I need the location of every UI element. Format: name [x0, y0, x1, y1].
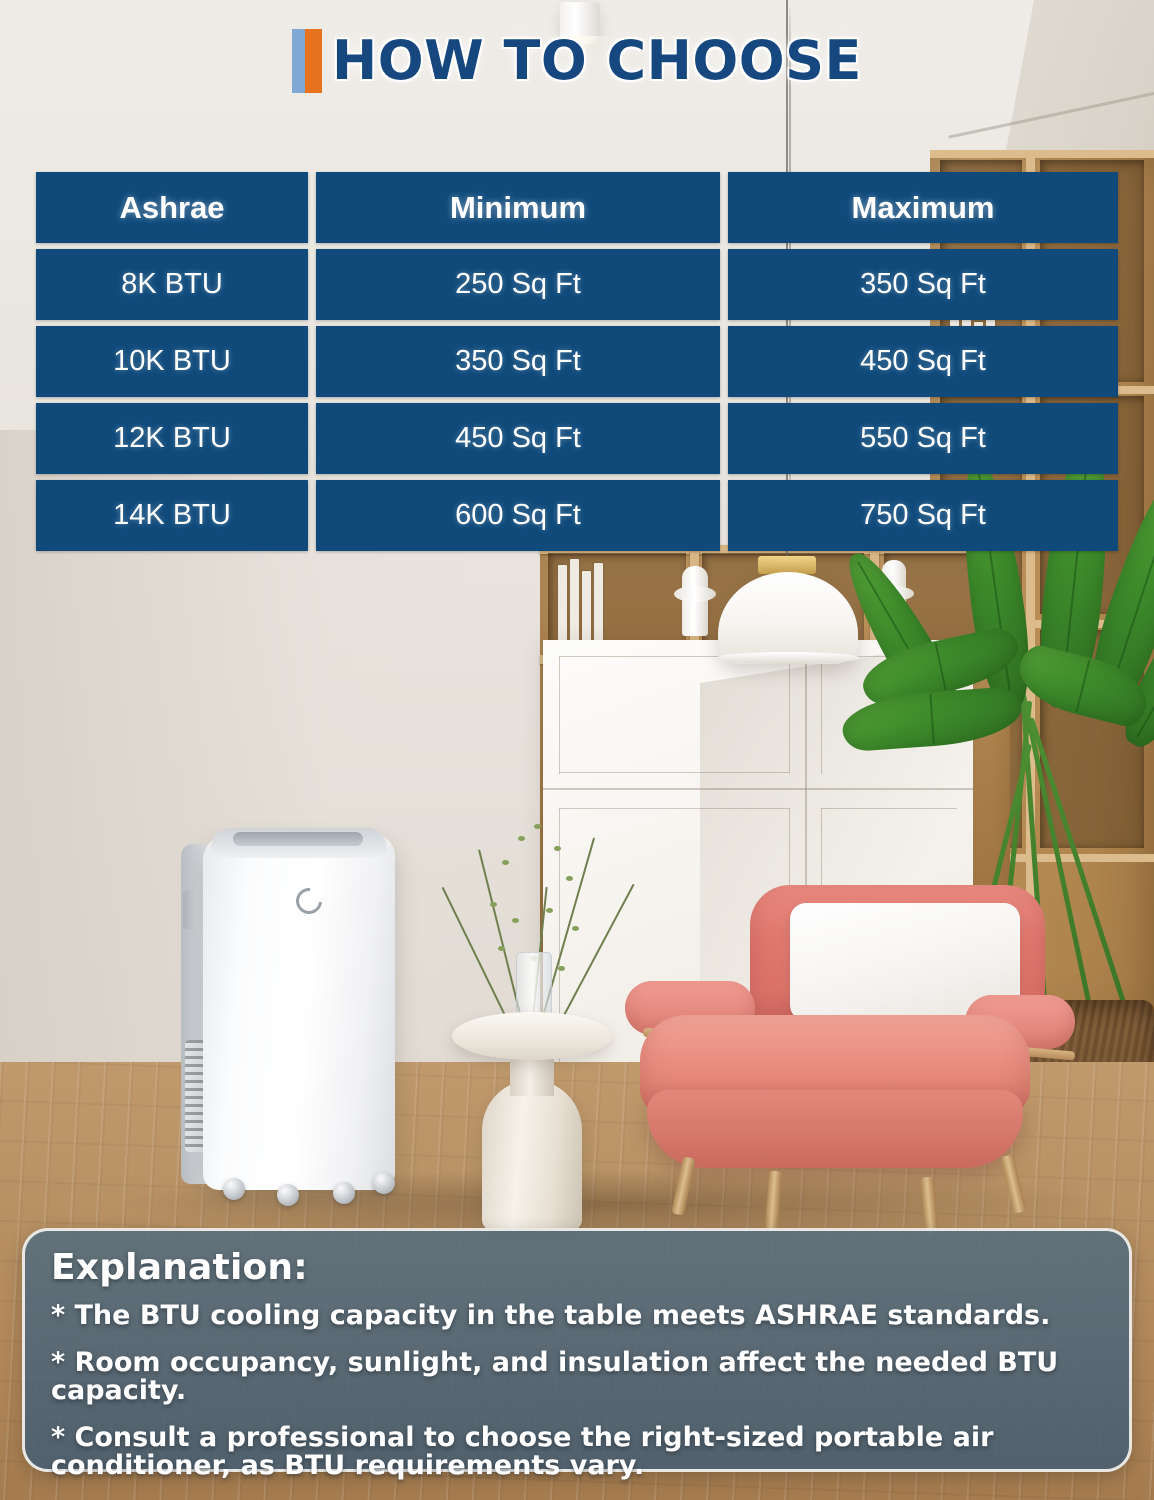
cell-maximum: 350 Sq Ft [728, 249, 1118, 320]
table-row: 14K BTU 600 Sq Ft 750 Sq Ft [36, 480, 1118, 551]
cell-maximum: 750 Sq Ft [728, 480, 1118, 551]
column-header-maximum: Maximum [728, 172, 1118, 243]
cell-ashrae: 12K BTU [36, 403, 308, 474]
cell-ashrae: 14K BTU [36, 480, 308, 551]
table-header-row: Ashrae Minimum Maximum [36, 172, 1118, 243]
explanation-line-1: * The BTU cooling capacity in the table … [51, 1302, 1103, 1331]
candlestick-ornament [682, 566, 708, 636]
title-accent-bars [292, 29, 322, 93]
cell-ashrae: 8K BTU [36, 249, 308, 320]
explanation-title: Explanation: [51, 1247, 1103, 1288]
explanation-line-3: * Consult a professional to choose the r… [51, 1424, 1103, 1481]
books [558, 559, 603, 647]
page-title: HOW TO CHOOSE [332, 34, 862, 88]
page-title-bar: HOW TO CHOOSE [0, 22, 1154, 100]
table-row: 10K BTU 350 Sq Ft 450 Sq Ft [36, 326, 1118, 397]
table-row: 12K BTU 450 Sq Ft 550 Sq Ft [36, 403, 1118, 474]
btu-sizing-table: Ashrae Minimum Maximum 8K BTU 250 Sq Ft … [36, 172, 1118, 551]
explanation-box: Explanation: * The BTU cooling capacity … [22, 1228, 1132, 1472]
table-row: 8K BTU 250 Sq Ft 350 Sq Ft [36, 249, 1118, 320]
cell-maximum: 550 Sq Ft [728, 403, 1118, 474]
side-table-top [452, 1012, 612, 1060]
column-header-minimum: Minimum [316, 172, 720, 243]
explanation-line-2: * Room occupancy, sunlight, and insulati… [51, 1349, 1103, 1406]
accent-bar-orange-icon [305, 29, 322, 93]
accent-bar-blue-icon [292, 29, 305, 93]
cell-minimum: 450 Sq Ft [316, 403, 720, 474]
pendant-lamp-rim [716, 652, 860, 664]
pink-armchair [615, 885, 1065, 1230]
cell-minimum: 350 Sq Ft [316, 326, 720, 397]
cell-minimum: 600 Sq Ft [316, 480, 720, 551]
cell-ashrae: 10K BTU [36, 326, 308, 397]
side-table-base [482, 1080, 582, 1230]
portable-air-conditioner [181, 826, 401, 1198]
cell-maximum: 450 Sq Ft [728, 326, 1118, 397]
column-header-ashrae: Ashrae [36, 172, 308, 243]
cell-minimum: 250 Sq Ft [316, 249, 720, 320]
